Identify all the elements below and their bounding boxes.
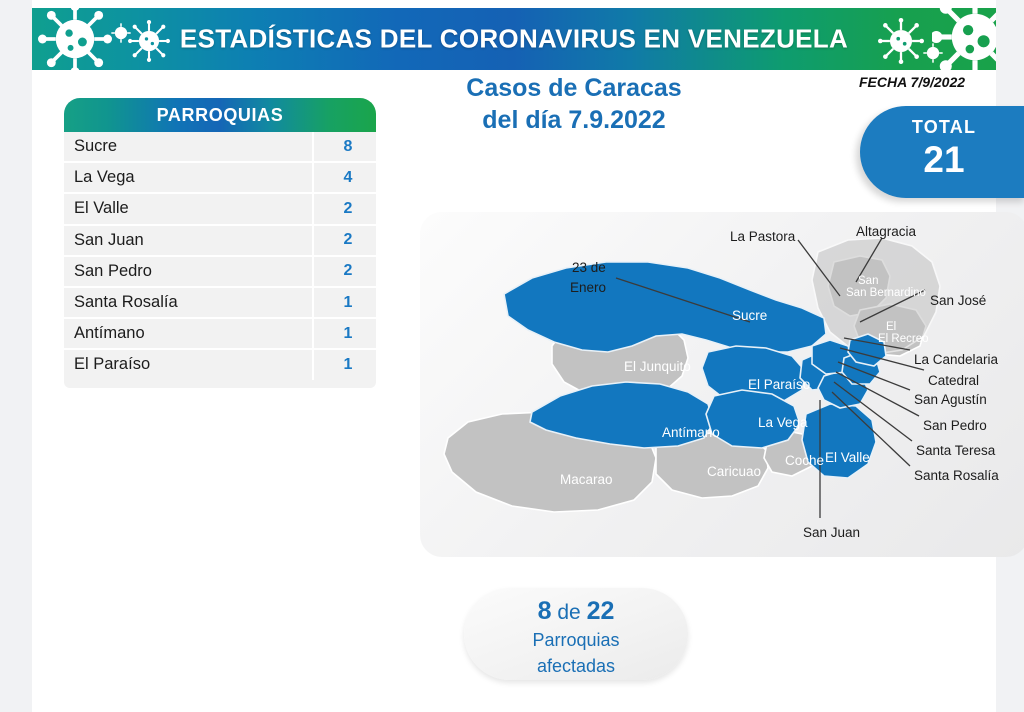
map-title: Casos de Caracas del día 7.9.2022 [390, 72, 758, 136]
total-badge: TOTAL 21 [860, 106, 1024, 198]
content-sheet: ESTADÍSTICAS DEL CORONAVIRUS EN VENEZUEL… [32, 0, 996, 712]
table-row[interactable]: San Pedro 2 [64, 257, 376, 288]
map-label-catedral: Catedral [928, 373, 979, 388]
fecha-label: FECHA 7/9/2022 [832, 74, 992, 90]
pill-connector: de [552, 601, 587, 624]
parroquias-table: PARROQUIAS Sucre 8 La Vega 4 El Valle 2 … [64, 98, 376, 388]
parroquia-count: 2 [314, 200, 376, 218]
virus-icon [932, 8, 996, 70]
pill-ratio: 8 de 22 [464, 588, 688, 627]
parroquia-count: 1 [314, 294, 376, 312]
column-divider [312, 319, 314, 348]
total-value: 21 [860, 138, 1024, 182]
map-label-san-agustin: San Agustín [914, 392, 987, 407]
parroquia-count: 8 [314, 138, 376, 156]
parroquia-name: Santa Rosalía [64, 293, 314, 312]
parroquia-name: San Juan [64, 231, 314, 250]
parroquia-name: El Paraíso [64, 355, 314, 374]
map-label-san-pedro: San Pedro [923, 418, 987, 433]
map-label-enero: Enero [570, 280, 606, 295]
parroquia-name: San Pedro [64, 262, 314, 281]
map-region-label-coche: Coche [785, 453, 824, 468]
table-row[interactable]: San Juan 2 [64, 226, 376, 257]
map-label-altagracia: Altagracia [856, 224, 916, 239]
table-footer [64, 380, 376, 388]
column-divider [312, 350, 314, 379]
table-row[interactable]: Santa Rosalía 1 [64, 288, 376, 319]
affected-parroquias-pill: 8 de 22 Parroquias afectadas [464, 588, 688, 680]
column-divider [312, 226, 314, 255]
column-divider [312, 257, 314, 286]
column-divider [312, 194, 314, 223]
map-label-la-candelaria: La Candelaria [914, 352, 998, 367]
column-divider [312, 163, 314, 192]
pill-line3: afectadas [464, 653, 688, 679]
map-region-label-macarao: Macarao [560, 472, 613, 487]
map-label-santa-teresa: Santa Teresa [916, 443, 995, 458]
pill-total-count: 22 [587, 597, 615, 625]
total-label: TOTAL [860, 106, 1024, 138]
parroquia-count: 2 [314, 262, 376, 280]
map-region-label-el-valle: El Valle [825, 450, 870, 465]
pill-affected-count: 8 [538, 597, 552, 625]
map-label-santa-rosalia: Santa Rosalía [914, 468, 999, 483]
parroquia-name: El Valle [64, 199, 314, 218]
header-banner: ESTADÍSTICAS DEL CORONAVIRUS EN VENEZUEL… [32, 8, 996, 70]
parroquia-name: Sucre [64, 137, 314, 156]
map-region-label-antimano: Antímano [662, 425, 720, 440]
map-region-label-el: El [886, 321, 896, 333]
page-title: ESTADÍSTICAS DEL CORONAVIRUS EN VENEZUEL… [32, 24, 996, 55]
map-region-label-el-junquito: El Junquito [624, 359, 691, 374]
map-region-label-san-bernardino: San Bernardino [846, 287, 926, 299]
map-title-line2: del día 7.9.2022 [390, 104, 758, 136]
column-divider [312, 288, 314, 317]
map-region-label-sucre: Sucre [732, 308, 767, 323]
table-row[interactable]: El Paraíso 1 [64, 350, 376, 379]
map-title-line1: Casos de Caracas [390, 72, 758, 104]
table-row[interactable]: La Vega 4 [64, 163, 376, 194]
map-region-label-el-paraiso: El Paraíso [748, 377, 810, 392]
map-label-la-pastora: La Pastora [730, 229, 795, 244]
map-region-label-san: San [858, 275, 878, 287]
parroquia-name: Antímano [64, 324, 314, 343]
map-region-label-la-vega: La Vega [758, 415, 808, 430]
map-label-san-juan: San Juan [803, 525, 860, 540]
table-row[interactable]: Sucre 8 [64, 132, 376, 163]
parroquia-count: 2 [314, 231, 376, 249]
table-header: PARROQUIAS [64, 98, 376, 132]
table-header-label: PARROQUIAS [157, 105, 284, 126]
pill-line2: Parroquias [464, 627, 688, 653]
parroquia-count: 1 [314, 356, 376, 374]
parroquia-count: 4 [314, 169, 376, 187]
column-divider [312, 132, 314, 161]
infographic-page: ESTADÍSTICAS DEL CORONAVIRUS EN VENEZUEL… [0, 0, 1024, 712]
map-label-23-de-enero: 23 de [572, 260, 606, 275]
virus-icon [878, 18, 924, 64]
table-row[interactable]: Antímano 1 [64, 319, 376, 350]
map-region-label-caricuao: Caricuao [707, 464, 761, 479]
table-row[interactable]: El Valle 2 [64, 194, 376, 225]
parroquia-count: 1 [314, 325, 376, 343]
map-label-san-jose: San José [930, 293, 986, 308]
parroquia-name: La Vega [64, 168, 314, 187]
map-region-label-el-recreo: El Recreo [878, 333, 929, 345]
